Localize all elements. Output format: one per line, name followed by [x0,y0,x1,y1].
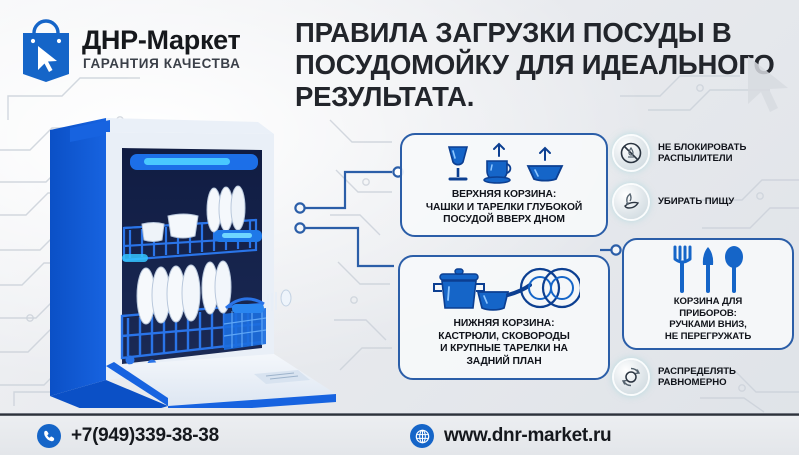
bowl-icon [525,162,565,184]
upper-basket-line3: ПОСУДОЙ ВВЕРХ ДНОМ [402,214,606,227]
tip-distribute-line1: РАСПРЕДЕЛЯТЬ [658,366,736,377]
lower-basket-text: НИЖНЯЯ КОРЗИНА: КАСТРЮЛИ, СКОВОРОДЫ И КР… [400,318,608,368]
arrow-up-icon [537,146,553,162]
scrape-food-icon [614,185,648,219]
tip-distribute: РАСПРЕДЕЛЯТЬ РАВНОМЕРНО [614,360,736,394]
footer-website[interactable]: www.dnr-market.ru [410,424,611,448]
tip-distribute-line2: РАВНОМЕРНО [658,377,726,388]
upper-basket-line2: ЧАШКИ И ТАРЕЛКИ ГЛУБОКОЙ [402,202,606,215]
footer-website-text: www.dnr-market.ru [444,425,611,447]
circular-arrows-icon [614,360,648,394]
globe-icon [410,424,434,448]
lower-basket-line3: И КРУПНЫЕ ТАРЕЛКИ НА [400,343,608,356]
cutlery-title: КОРЗИНА ДЛЯ [624,296,792,308]
cup-and-saucer-icon [482,158,516,184]
cursor-arrow-icon [742,52,796,118]
cutlery-line3: РУЧКАМИ ВНИЗ, [624,319,792,331]
footer-phone[interactable]: +7(949)339-38-38 [37,424,219,448]
lower-basket-line4: ЗАДНИЙ ПЛАН [400,356,608,369]
cutlery-line4: НЕ ПЕРЕГРУЖАТЬ [624,331,792,343]
lower-basket-line2: КАСТРЮЛИ, СКОВОРОДЫ [400,331,608,344]
fork-icon [671,245,693,293]
cutlery-line2: ПРИБОРОВ: [624,308,792,320]
knife-icon [700,245,716,293]
tip-sprayers: НЕ БЛОКИРОВАТЬ РАСПЫЛИТЕЛИ [614,136,746,170]
cutlery-text: КОРЗИНА ДЛЯ ПРИБОРОВ: РУЧКАМИ ВНИЗ, НЕ П… [624,296,792,342]
lower-basket-icon-row [400,262,608,314]
brand-tagline: ГАРАНТИЯ КАЧЕСТВА [82,55,240,72]
phone-icon [37,424,61,448]
cutlery-icon-row [624,245,792,293]
open-dishwasher-illustration [18,108,338,408]
infographic-poster: ДНР-Маркет ГАРАНТИЯ КАЧЕСТВА ПРАВИЛА ЗАГ… [0,0,799,455]
lower-basket-title: НИЖНЯЯ КОРЗИНА: [400,318,608,331]
arrow-up-icon [491,142,507,158]
card-cutlery-basket: КОРЗИНА ДЛЯ ПРИБОРОВ: РУЧКАМИ ВНИЗ, НЕ П… [622,238,794,350]
upper-basket-text: ВЕРХНЯЯ КОРЗИНА: ЧАШКИ И ТАРЕЛКИ ГЛУБОКО… [402,189,606,227]
no-spray-prohibited-icon [614,136,648,170]
plates-icon [518,264,580,314]
tip-sprayers-label: НЕ БЛОКИРОВАТЬ РАСПЫЛИТЕЛИ [658,142,746,165]
card-lower-basket: НИЖНЯЯ КОРЗИНА: КАСТРЮЛИ, СКОВОРОДЫ И КР… [398,255,610,380]
shopping-bag-icon [16,14,76,82]
tip-food-label: УБИРАТЬ ПИЩУ [658,196,734,208]
page-title: ПРАВИЛА ЗАГРУЗКИ ПОСУДЫ В ПОСУДОМОЙКУ ДЛ… [295,17,775,113]
tip-sprayers-line1: НЕ БЛОКИРОВАТЬ [658,142,746,153]
tip-food-line1: УБИРАТЬ ПИЩУ [658,196,734,207]
upper-basket-title: ВЕРХНЯЯ КОРЗИНА: [402,189,606,202]
brand-logo[interactable]: ДНР-Маркет ГАРАНТИЯ КАЧЕСТВА [16,14,240,82]
tip-sprayers-line2: РАСПЫЛИТЕЛИ [658,153,732,164]
brand-name: ДНР-Маркет [82,25,240,55]
footer-phone-text: +7(949)339-38-38 [71,425,219,447]
tip-distribute-label: РАСПРЕДЕЛЯТЬ РАВНОМЕРНО [658,366,736,389]
footer: +7(949)339-38-38 www.dnr-market.ru [0,416,799,455]
wine-glass-icon [443,142,473,184]
spoon-icon [723,245,745,293]
card-upper-basket: ВЕРХНЯЯ КОРЗИНА: ЧАШКИ И ТАРЕЛКИ ГЛУБОКО… [400,133,608,237]
tip-food: УБИРАТЬ ПИЩУ [614,185,734,219]
upper-basket-icon-row [402,140,606,184]
header: ДНР-Маркет ГАРАНТИЯ КАЧЕСТВА ПРАВИЛА ЗАГ… [0,0,799,118]
